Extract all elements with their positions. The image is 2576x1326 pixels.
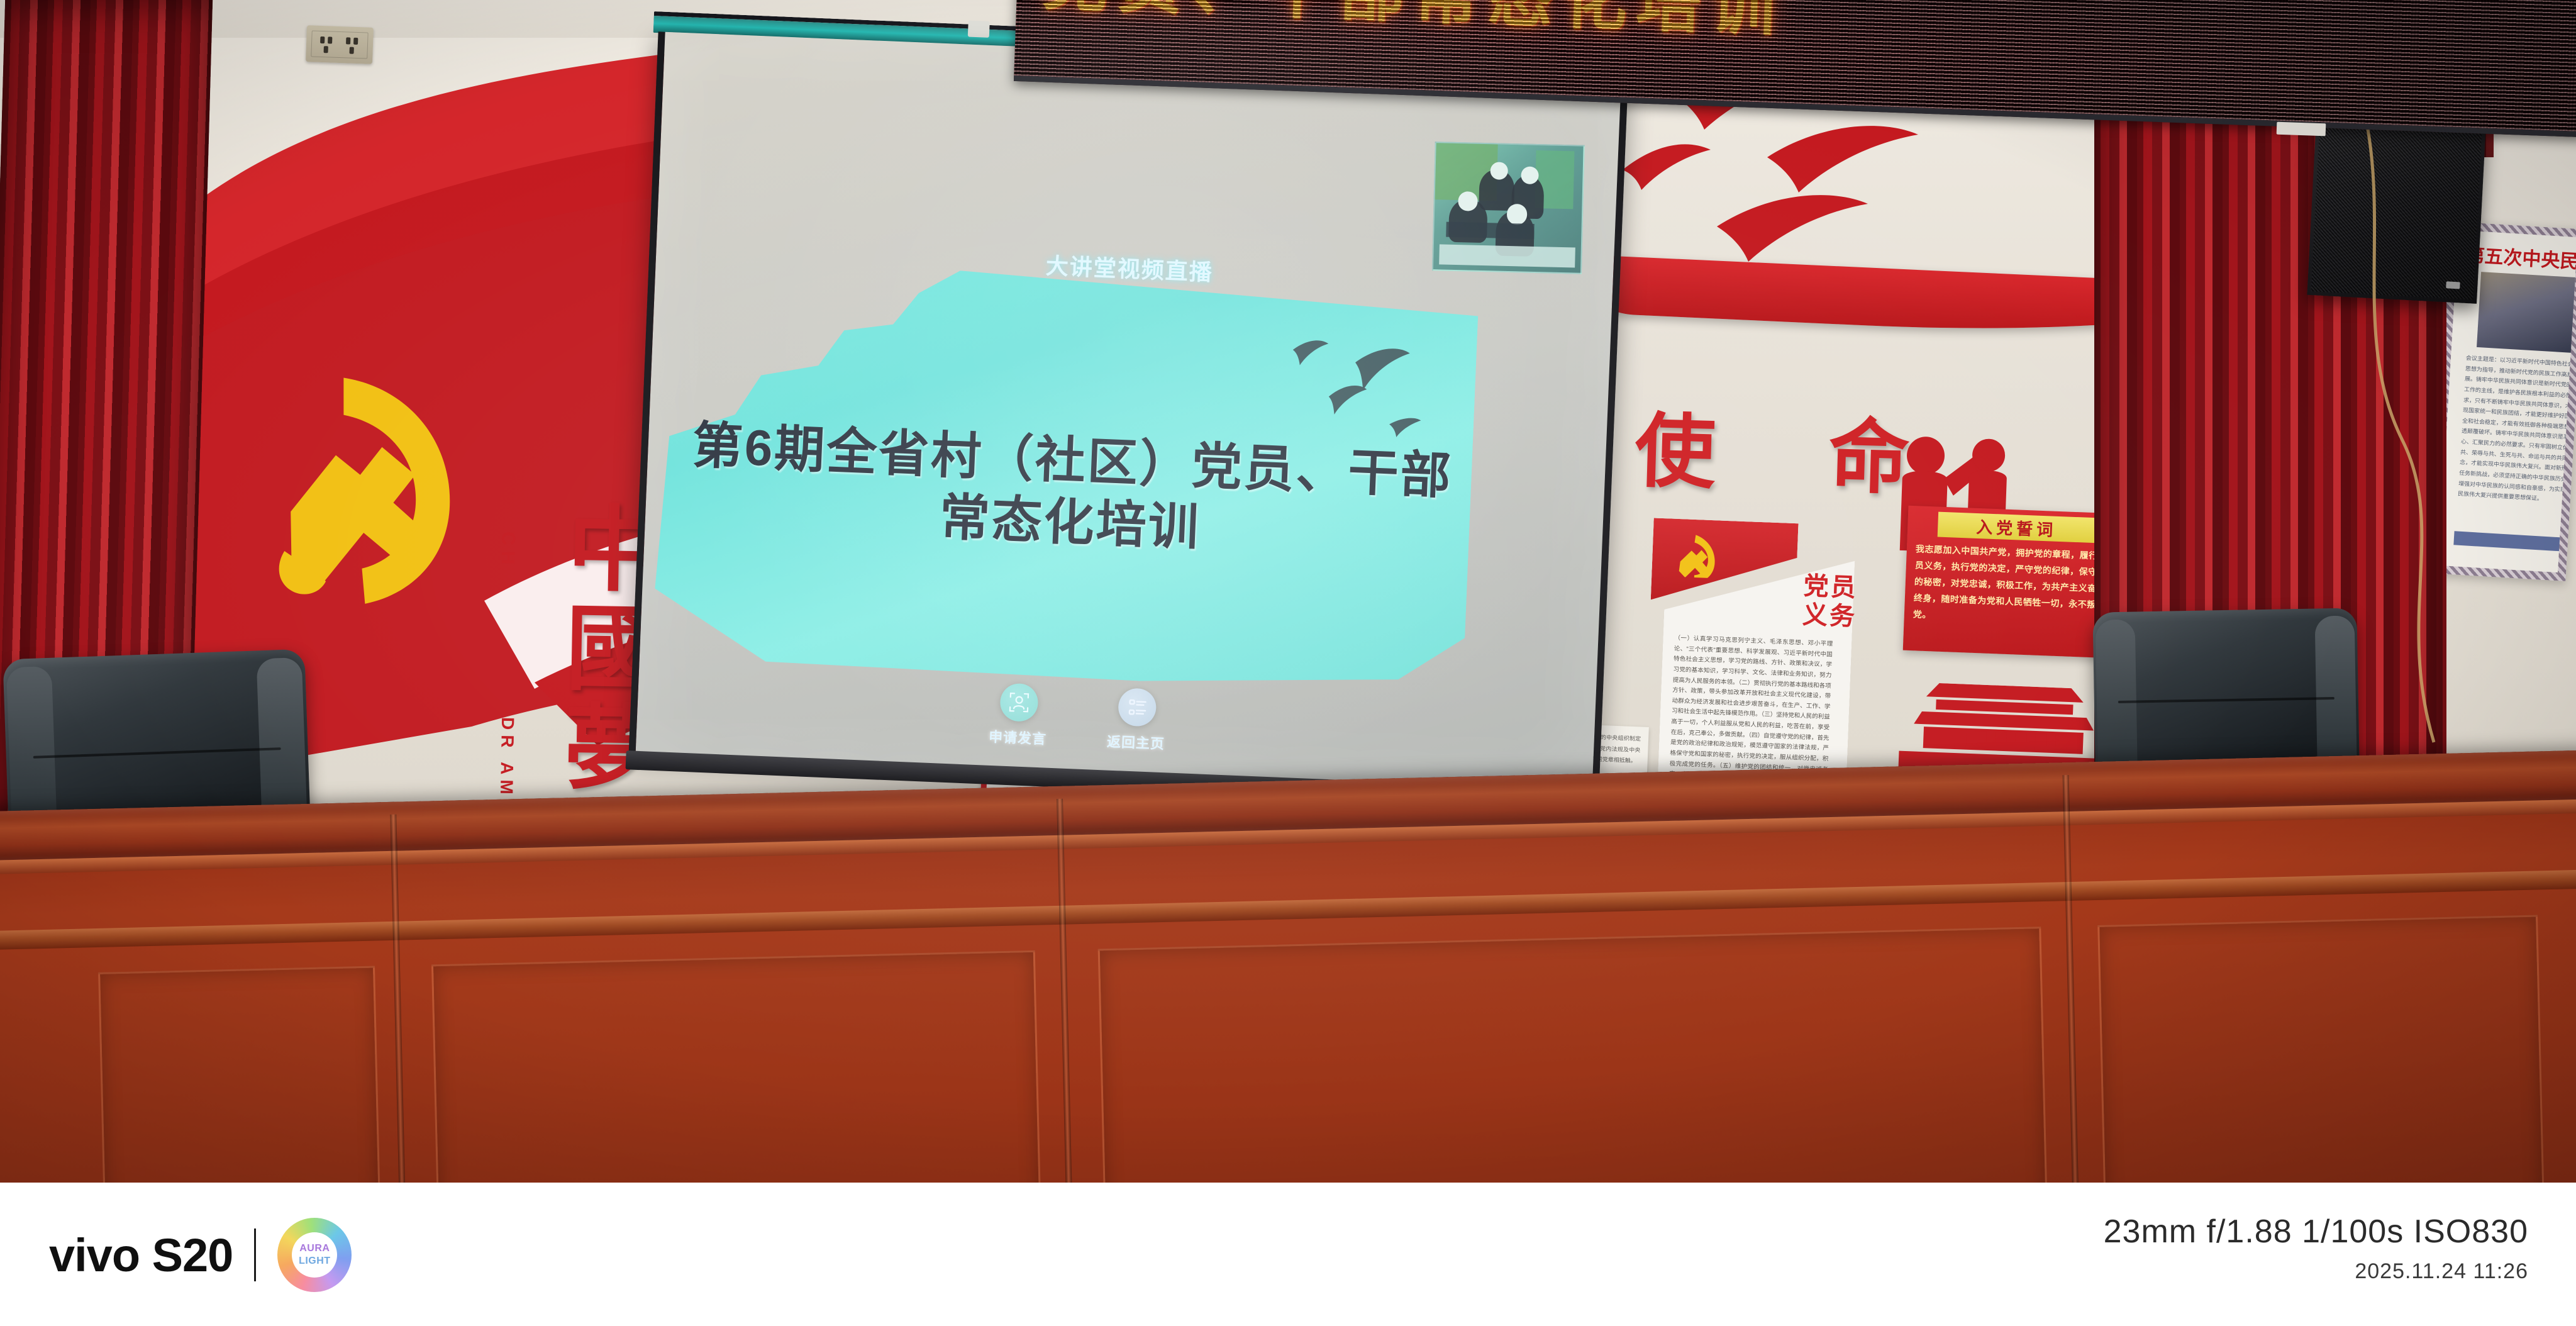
list-menu-icon xyxy=(1118,688,1157,727)
framed-poster-photo xyxy=(2477,272,2576,354)
wall-power-outlet xyxy=(306,25,374,64)
led-mount-bracket xyxy=(2277,122,2326,136)
slide-button-row: 申请发言 返回主页 xyxy=(989,682,1268,757)
china-dream-en: CH xyxy=(496,532,518,571)
framed-poster-title: 第五次中央民族工作会议 xyxy=(2465,240,2576,274)
projection-screen[interactable]: 大讲堂视频直播 xyxy=(623,11,1634,812)
brand-divider xyxy=(254,1228,256,1281)
hammer-sickle-small-icon xyxy=(1673,532,1723,579)
capture-datetime: 2025.11.24 11:26 xyxy=(2104,1259,2528,1284)
oath-title: 入党誓词 xyxy=(1938,512,2096,543)
poster-title: 党员 义务 xyxy=(1802,572,1858,632)
china-dream-en-line2: DR AM xyxy=(496,717,518,799)
return-home-label: 返回主页 xyxy=(1106,731,1165,754)
framed-poster-body: 会议主题是：以习近平新时代中国特色社会主义思想为指导，推动新时代党的民族工作高质… xyxy=(2458,353,2576,506)
request-to-speak-label: 申请发言 xyxy=(989,726,1047,749)
live-video-inset[interactable] xyxy=(1432,142,1585,274)
speaker-badge xyxy=(2446,281,2460,289)
outlet-face xyxy=(311,30,368,58)
exif-line: 23mm f/1.88 1/100s ISO830 xyxy=(2104,1213,2528,1251)
oath-body: 我志愿加入中国共产党，拥护党的章程，履行党员义务，执行党的决定，严守党的纪律，保… xyxy=(1913,541,2109,630)
aura-label-1: AURA xyxy=(299,1242,330,1255)
aura-label-2: LIGHT xyxy=(299,1255,331,1267)
photo-canvas: 中國夢 CH DR AM 使 命 党员 xyxy=(0,0,2576,1326)
screen-surface: 大讲堂视频直播 xyxy=(629,31,1629,793)
watermark-brand-group: vivo S20 AURA LIGHT xyxy=(49,1218,352,1292)
wall-speaker xyxy=(2307,106,2486,304)
screen-hook-left xyxy=(968,21,990,38)
framed-poster-footer-bar xyxy=(2453,531,2576,552)
request-to-speak-button[interactable]: 申请发言 xyxy=(989,682,1049,749)
watermark-exif-group: 23mm f/1.88 1/100s ISO830 2025.11.24 11:… xyxy=(2104,1213,2528,1284)
return-home-button[interactable]: 返回主页 xyxy=(1106,688,1167,754)
aura-light-ring-icon: AURA LIGHT xyxy=(277,1218,352,1292)
speaker-grill xyxy=(2311,110,2483,299)
person-in-frame-icon xyxy=(999,683,1038,722)
camera-watermark-bar: vivo S20 AURA LIGHT 23mm f/1.88 1/100s I… xyxy=(0,1183,2576,1326)
brand-label: vivo S20 xyxy=(49,1228,233,1282)
party-oath-plaque: 入党誓词 我志愿加入中国共产党，拥护党的章程，履行党员义务，执行党的决定，严守党… xyxy=(1903,506,2116,658)
